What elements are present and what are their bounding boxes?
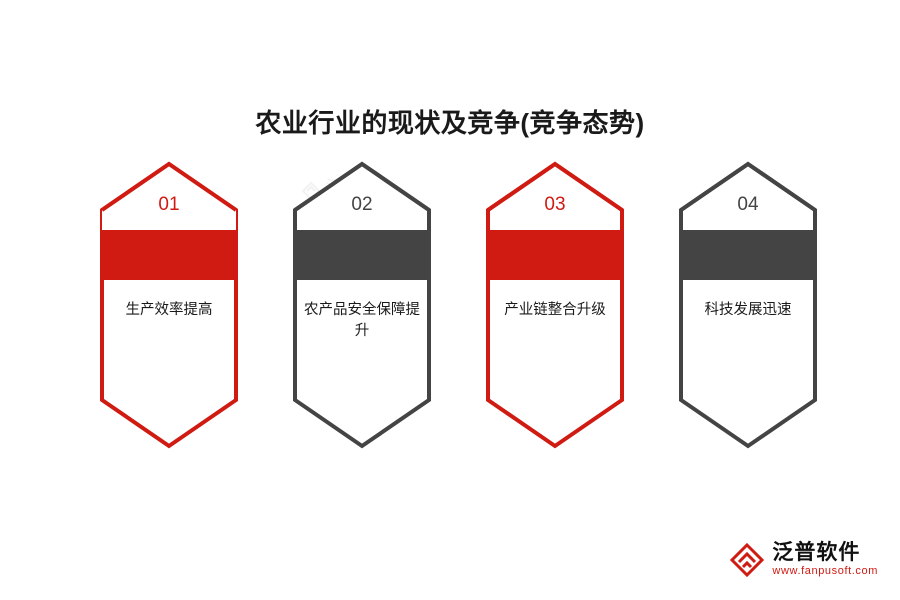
banner-number-3: 03	[484, 194, 626, 216]
fanpu-logo-icon	[730, 543, 764, 577]
banner-label-3: 产业链整合升级	[490, 300, 620, 321]
diagram-canvas: 农业行业的现状及竞争(竞争态势) 泛普软件 fanpusoft.com 01 生…	[0, 0, 900, 600]
brand-name: 泛普软件	[772, 541, 878, 564]
banner-item-2[interactable]: 02 农产品安全保障提升	[291, 160, 433, 450]
banner-item-1[interactable]: 01 生产效率提高	[98, 160, 240, 450]
banner-number-2: 02	[291, 194, 433, 216]
banner-label-4: 科技发展迅速	[683, 300, 813, 321]
brand-url: www.fanpusoft.com	[772, 564, 878, 578]
banner-band-2	[295, 230, 429, 280]
banner-label-1: 生产效率提高	[104, 300, 234, 321]
banner-band-1	[102, 230, 236, 280]
brand-logo: 泛普软件 www.fanpusoft.com	[730, 541, 878, 578]
shape-row: 01 生产效率提高 02 农产品安全保障提升 03 产业链整合升级	[0, 160, 900, 460]
banner-band-4	[681, 230, 815, 280]
banner-item-3[interactable]: 03 产业链整合升级	[484, 160, 626, 450]
banner-number-4: 04	[677, 194, 819, 216]
banner-item-4[interactable]: 04 科技发展迅速	[677, 160, 819, 450]
banner-label-2: 农产品安全保障提升	[297, 300, 427, 342]
page-title: 农业行业的现状及竞争(竞争态势)	[0, 103, 900, 140]
banner-band-3	[488, 230, 622, 280]
banner-number-1: 01	[98, 194, 240, 216]
